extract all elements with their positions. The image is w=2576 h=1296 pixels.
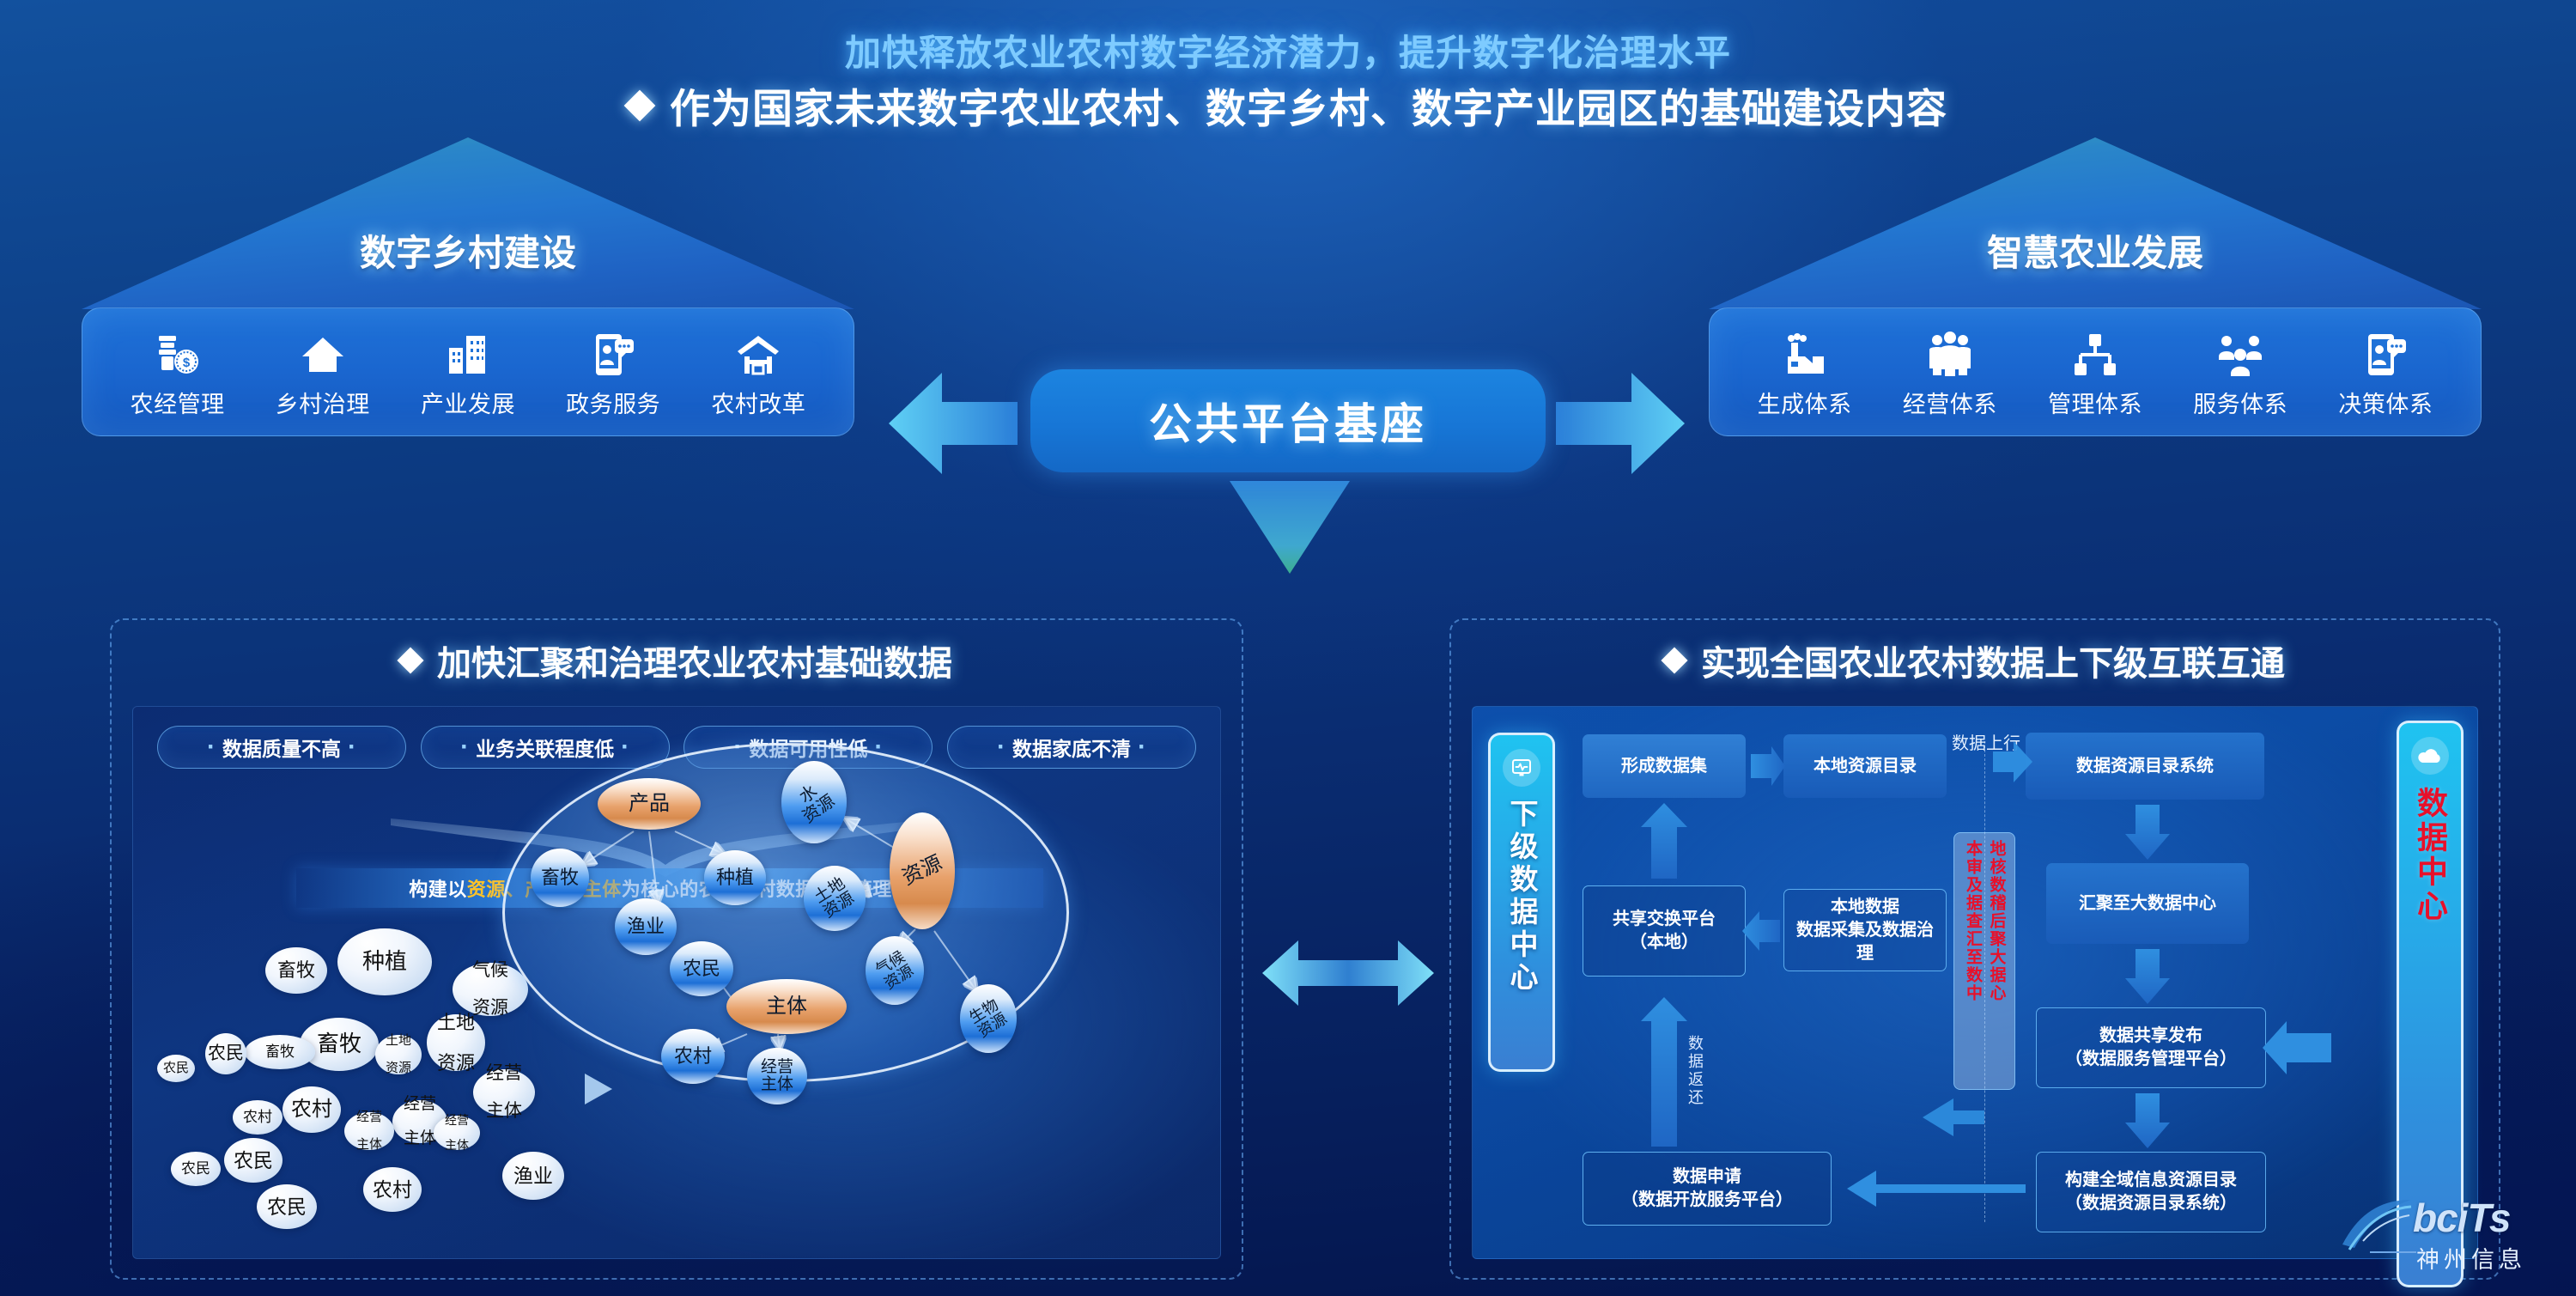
problem-pill[interactable]: 数据质量不高 bbox=[157, 726, 406, 769]
chaos-bubble-label: 经营 bbox=[356, 1110, 382, 1124]
core-data-node-label: 水资源 bbox=[789, 777, 838, 827]
house-left: 数字乡村建设 $农经管理乡村治理 产业发展 政务服务 农村改革 bbox=[82, 137, 854, 436]
chaos-bubble: 渔业 bbox=[502, 1152, 564, 1200]
people-group-icon bbox=[1886, 326, 2014, 379]
chaos-bubble: 种植 bbox=[337, 928, 432, 995]
core-data-node-label: 主体 bbox=[766, 995, 807, 1017]
chaos-bubble: 农民 bbox=[257, 1184, 317, 1229]
diamond-bullet-icon bbox=[397, 647, 423, 673]
chaos-bubble-label: 农民 bbox=[267, 1196, 307, 1217]
money-stack-icon: $ bbox=[113, 326, 242, 379]
service-item-label: 服务体系 bbox=[2176, 386, 2305, 419]
chaos-bubble-label: 畜牧 bbox=[317, 1032, 361, 1056]
chaos-bubble: 农民 bbox=[157, 1055, 195, 1082]
chaos-bubble-label: 土地 bbox=[386, 1034, 411, 1048]
service-item-服务体系[interactable]: 服务体系 bbox=[2176, 326, 2305, 419]
core-data-node-label: 农民 bbox=[683, 958, 720, 978]
logo-rule bbox=[2370, 1251, 2416, 1253]
core-data-node-label: 经营主体 bbox=[761, 1059, 793, 1093]
chaos-bubble: 农民 bbox=[171, 1152, 221, 1186]
red-note-col-1: 本审及据查汇至数中 bbox=[1960, 840, 1984, 1002]
data-center-label: 数据中心 bbox=[2408, 787, 2452, 924]
panel-right-title: 实现全国农业农村数据上下级互联互通 bbox=[1451, 636, 2499, 685]
chaos-bubble-label: 农村 bbox=[373, 1179, 412, 1200]
service-base-left: $农经管理乡村治理 产业发展 政务服务 农村改革 bbox=[82, 307, 854, 436]
chaos-bubble-label: 经营 bbox=[404, 1096, 436, 1113]
core-data-node[interactable]: 土地资源 bbox=[804, 866, 866, 931]
core-data-node[interactable]: 生物资源 bbox=[960, 984, 1017, 1053]
box-local-data-governance[interactable]: 本地数据数据采集及数据治理 bbox=[1783, 889, 1947, 971]
panel-left-content: 数据质量不高业务关联程度低数据可用性低数据家底不清 构建以资源、产品、主体为核心… bbox=[132, 706, 1221, 1259]
chaos-bubble-label: 农民 bbox=[234, 1150, 273, 1171]
chaos-bubble: 经营主体 bbox=[344, 1112, 394, 1150]
label-data-upstream: 数据上行 bbox=[1952, 729, 2020, 754]
box-catalog-system[interactable]: 数据资源目录系统 bbox=[2026, 733, 2264, 800]
service-item-管理体系[interactable]: 管理体系 bbox=[2031, 326, 2160, 419]
logo-swoosh-icon bbox=[2337, 1196, 2416, 1253]
service-item-label: 农经管理 bbox=[113, 386, 242, 419]
core-data-node[interactable]: 渔业 bbox=[615, 898, 677, 955]
service-item-决策体系[interactable]: 决策体系 bbox=[2321, 326, 2450, 419]
chaos-bubble-label: 主体 bbox=[486, 1102, 522, 1121]
chaos-bubble: 农民 bbox=[205, 1033, 246, 1074]
lower-data-center-label: 下级数据中心 bbox=[1501, 799, 1542, 995]
core-data-node[interactable]: 产品 bbox=[598, 778, 701, 830]
chaos-bubble-label: 主体 bbox=[445, 1139, 469, 1152]
headline-secondary: 作为国家未来数字农业农村、数字乡村、数字产业园区的基础建设内容 bbox=[0, 76, 2576, 135]
core-data-ellipse: 产品水资源资源畜牧种植土地资源渔业农民气候资源主体生物资源农村经营主体 bbox=[502, 743, 1069, 1082]
chaos-bubble-label: 农村 bbox=[243, 1110, 272, 1125]
chaos-bubble-label: 农民 bbox=[181, 1161, 210, 1177]
core-data-node[interactable]: 农民 bbox=[670, 941, 733, 996]
box-aggregate-bigdata[interactable]: 汇聚至大数据中心 bbox=[2046, 863, 2249, 944]
core-data-node[interactable]: 畜牧 bbox=[531, 849, 589, 907]
logo-chinese-name: 神州信息 bbox=[2416, 1241, 2526, 1275]
public-platform-base[interactable]: 公共平台基座 bbox=[1030, 369, 1546, 472]
ribbon-highlight-resource: 资源 bbox=[467, 874, 506, 902]
diamond-bullet-icon bbox=[1661, 647, 1687, 673]
chaos-bubble: 经营主体 bbox=[434, 1116, 480, 1150]
core-data-node-label: 气候资源 bbox=[873, 948, 917, 992]
people-service-icon bbox=[2176, 326, 2305, 379]
service-item-农村改革[interactable]: 农村改革 bbox=[694, 326, 823, 419]
buildings-icon bbox=[404, 326, 532, 379]
service-item-产业发展[interactable]: 产业发展 bbox=[404, 326, 532, 419]
slide-root: 加快释放农业农村数字经济潜力，提升数字化治理水平 作为国家未来数字农业农村、数字… bbox=[0, 0, 2576, 1296]
service-item-生成体系[interactable]: 生成体系 bbox=[1741, 326, 1869, 419]
chaos-bubble-label: 渔业 bbox=[513, 1165, 553, 1186]
ribbon-prefix: 构建以 bbox=[409, 874, 467, 902]
box-share-publish[interactable]: 数据共享发布（数据服务管理平台） bbox=[2036, 1007, 2266, 1088]
service-item-label: 乡村治理 bbox=[258, 386, 387, 419]
box-global-catalog[interactable]: 构建全域信息资源目录（数据资源目录系统） bbox=[2036, 1152, 2266, 1232]
arrow-left-icon bbox=[889, 368, 1018, 479]
chaos-bubble-label: 农民 bbox=[208, 1044, 244, 1063]
chaos-bubble: 农村 bbox=[283, 1086, 341, 1133]
roof-right-label: 智慧农业发展 bbox=[1709, 224, 2482, 277]
arrow-right-icon bbox=[1556, 368, 1685, 479]
core-data-node[interactable]: 农村 bbox=[661, 1029, 725, 1084]
core-data-node[interactable]: 资源 bbox=[890, 812, 955, 929]
chaos-bubble: 畜牧 bbox=[245, 1035, 315, 1069]
chaos-bubble-label: 种植 bbox=[362, 950, 407, 973]
service-item-乡村治理[interactable]: 乡村治理 bbox=[258, 326, 387, 419]
chaos-bubble-label: 主体 bbox=[404, 1130, 436, 1147]
chaos-bubble-label: 资源 bbox=[437, 1053, 475, 1073]
core-data-node-label: 畜牧 bbox=[541, 867, 579, 887]
service-item-label: 管理体系 bbox=[2031, 386, 2160, 419]
roof-left: 数字乡村建设 bbox=[82, 137, 854, 309]
panel-right-title-text: 实现全国农业农村数据上下级互联互通 bbox=[1701, 636, 2285, 685]
core-data-node[interactable]: 主体 bbox=[726, 979, 847, 1034]
service-item-label: 经营体系 bbox=[1886, 386, 2014, 419]
service-item-label: 农村改革 bbox=[694, 386, 823, 419]
factory-icon bbox=[1741, 326, 1869, 379]
panel-left-title: 加快汇聚和治理农业农村基础数据 bbox=[112, 636, 1242, 685]
box-share-platform[interactable]: 共享交换平台（本地） bbox=[1583, 885, 1746, 977]
service-base-right: 生成体系 经营体系 管理体系 服务体系 决策体系 bbox=[1709, 307, 2482, 436]
panel-right: 实现全国农业农村数据上下级互联互通 下级数据中心 bbox=[1449, 618, 2500, 1280]
org-chart-icon bbox=[2031, 326, 2160, 379]
service-item-label: 生成体系 bbox=[1741, 386, 1869, 419]
problem-pill-label: 数据质量不高 bbox=[222, 733, 341, 762]
chaos-bubble-label: 农民 bbox=[163, 1062, 189, 1075]
diamond-bullet-icon bbox=[624, 89, 656, 121]
core-data-node-label: 种植 bbox=[716, 867, 754, 887]
chaos-bubble: 农村 bbox=[233, 1100, 283, 1135]
label-data-return: 数据返还 bbox=[1684, 1035, 1706, 1107]
flow-divider-dashed bbox=[1984, 741, 1985, 1222]
chaos-bubble-label: 经营 bbox=[445, 1114, 469, 1127]
chaos-bubble-label: 资源 bbox=[472, 999, 508, 1018]
service-item-农经管理[interactable]: $农经管理 bbox=[113, 326, 242, 419]
chaos-bubble-label: 畜牧 bbox=[265, 1044, 295, 1060]
box-data-apply[interactable]: 数据申请（数据开放服务平台） bbox=[1583, 1152, 1832, 1226]
house-icon bbox=[258, 326, 387, 379]
panel-right-content: 下级数据中心 数据中心 形成数据集 本地资源目录 共享交换平台（本地） 本地数据… bbox=[1472, 706, 2478, 1259]
arrow-down-icon bbox=[1230, 481, 1350, 575]
core-data-node-label: 资源 bbox=[899, 852, 945, 889]
core-data-node[interactable]: 水资源 bbox=[781, 761, 847, 843]
core-data-node-label: 产品 bbox=[629, 793, 670, 814]
svg-text:$: $ bbox=[182, 356, 190, 370]
headline-primary: 加快释放农业农村数字经济潜力，提升数字化治理水平 bbox=[0, 24, 2576, 76]
core-data-node-label: 土地资源 bbox=[811, 875, 858, 922]
chaos-bubble-label: 气候 bbox=[472, 961, 508, 980]
chaos-bubble-label: 畜牧 bbox=[277, 960, 315, 980]
core-data-node-label: 渔业 bbox=[627, 916, 665, 936]
box-form-dataset[interactable]: 形成数据集 bbox=[1583, 734, 1746, 798]
headline-secondary-text: 作为国家未来数字农业农村、数字乡村、数字产业园区的基础建设内容 bbox=[670, 76, 1947, 135]
panel-left: 加快汇聚和治理农业农村基础数据 数据质量不高业务关联程度低数据可用性低数据家底不… bbox=[110, 618, 1243, 1280]
roof-left-label: 数字乡村建设 bbox=[82, 224, 854, 277]
lower-data-center-column[interactable]: 下级数据中心 bbox=[1488, 733, 1555, 1072]
box-local-catalog[interactable]: 本地资源目录 bbox=[1783, 734, 1947, 798]
mobile-service-icon bbox=[549, 326, 677, 379]
mobile-service-icon bbox=[2321, 326, 2450, 379]
house-right: 智慧农业发展 生成体系 经营体系 管理体系 服务体系 决策体系 bbox=[1709, 137, 2482, 436]
chaos-bubble-label: 主体 bbox=[356, 1138, 382, 1152]
red-note-col-2: 地核数稽后聚大据心 bbox=[1984, 840, 2008, 1002]
service-item-经营体系[interactable]: 经营体系 bbox=[1886, 326, 2014, 419]
public-platform-base-label: 公共平台基座 bbox=[1149, 390, 1427, 452]
chaos-bubble: 土地资源 bbox=[427, 1014, 485, 1071]
chaos-bubble-label: 资源 bbox=[386, 1062, 411, 1075]
chaos-bubble-label: 土地 bbox=[437, 1013, 475, 1032]
service-item-label: 决策体系 bbox=[2321, 386, 2450, 419]
chaos-bubble: 农民 bbox=[224, 1138, 283, 1183]
service-item-政务服务[interactable]: 政务服务 bbox=[549, 326, 677, 419]
chaos-bubble-label: 农村 bbox=[291, 1098, 332, 1120]
core-data-node-label: 农村 bbox=[674, 1046, 712, 1066]
core-data-node[interactable]: 经营主体 bbox=[747, 1048, 807, 1104]
village-house-icon bbox=[694, 326, 823, 379]
panel-left-title-text: 加快汇聚和治理农业农村基础数据 bbox=[437, 636, 952, 685]
bidirectional-arrow-icon bbox=[1262, 936, 1434, 1035]
service-item-label: 政务服务 bbox=[549, 386, 677, 419]
logo-wordmark: bciTs bbox=[2413, 1195, 2510, 1241]
chaos-bubble: 农村 bbox=[363, 1167, 422, 1212]
chaos-bubble: 畜牧 bbox=[265, 947, 327, 994]
core-data-node[interactable]: 种植 bbox=[704, 850, 766, 905]
roof-right: 智慧农业发展 bbox=[1709, 137, 2482, 309]
service-item-label: 产业发展 bbox=[404, 386, 532, 419]
monitor-pulse-icon bbox=[1503, 749, 1540, 787]
cloud-icon bbox=[2411, 737, 2449, 775]
chaos-bubble: 土地资源 bbox=[375, 1035, 422, 1074]
core-data-node[interactable]: 气候资源 bbox=[866, 936, 924, 1005]
company-logo: bciTs 神州信息 bbox=[2337, 1190, 2552, 1279]
core-data-node-label: 生物资源 bbox=[967, 996, 1011, 1040]
